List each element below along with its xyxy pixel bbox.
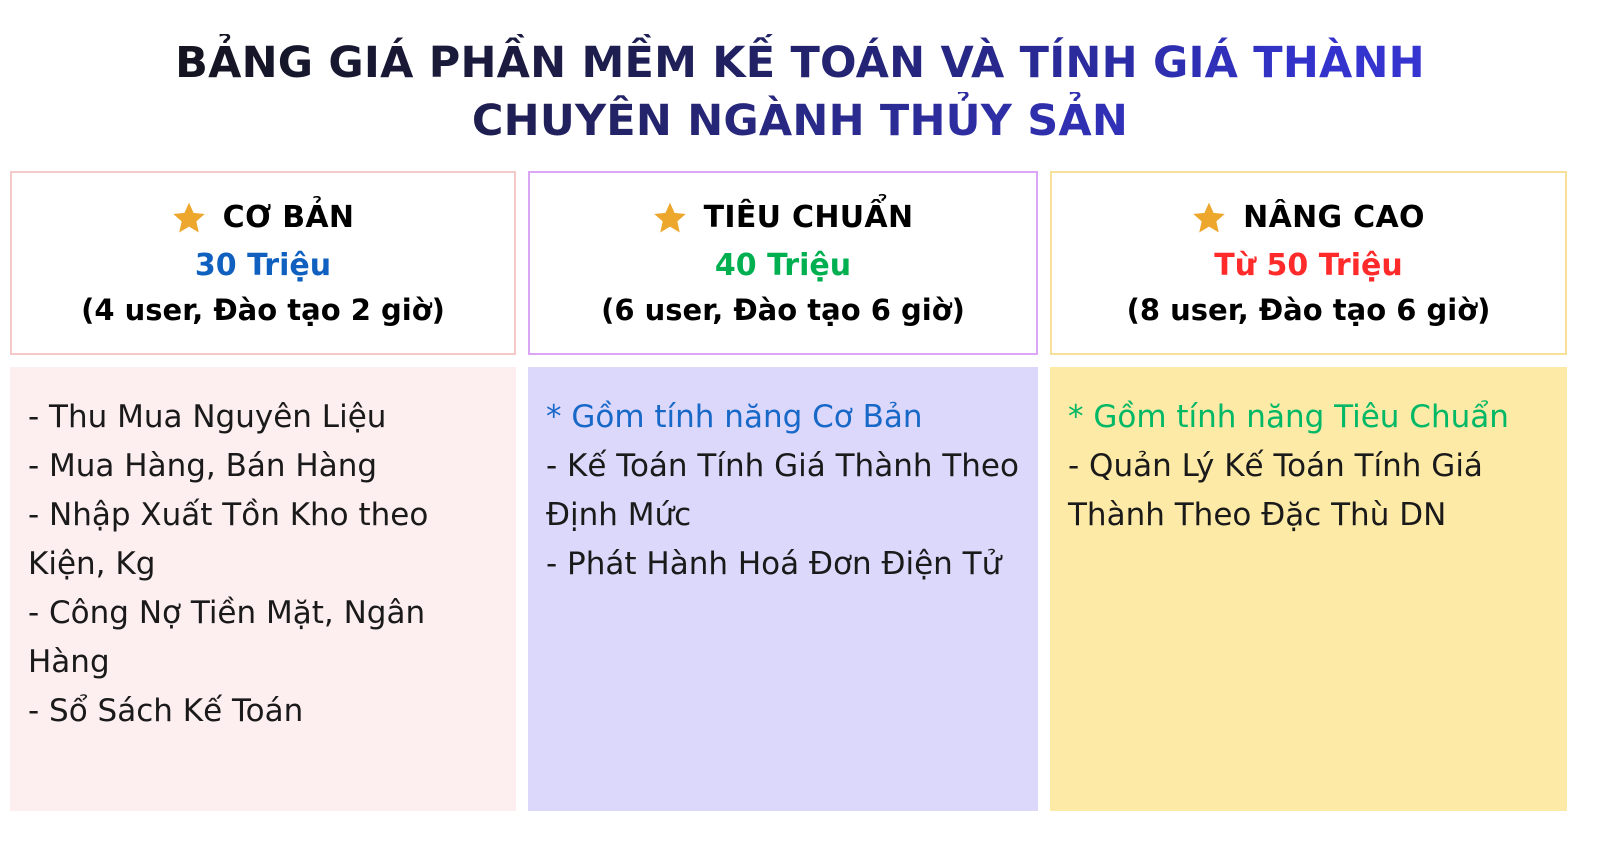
pricing-card-header-advanced: NÂNG CAO Từ 50 Triệu (8 user, Đào tạo 6 …	[1050, 171, 1567, 355]
plan-name-row: TIÊU CHUẨN	[530, 195, 1036, 241]
feature-item: - Nhập Xuất Tồn Kho theo Kiện, Kg	[28, 491, 498, 589]
page-title-line-1: BẢNG GIÁ PHẦN MỀM KẾ TOÁN VÀ TÍNH GIÁ TH…	[0, 34, 1600, 92]
pricing-card-header-basic: CƠ BẢN 30 Triệu (4 user, Đào tạo 2 giờ)	[10, 171, 516, 355]
plan-meta: (6 user, Đào tạo 6 giờ)	[530, 292, 1036, 328]
feature-item: - Công Nợ Tiền Mặt, Ngân Hàng	[28, 589, 498, 687]
plan-meta: (4 user, Đào tạo 2 giờ)	[12, 292, 514, 328]
pricing-cards-row: CƠ BẢN 30 Triệu (4 user, Đào tạo 2 giờ) …	[10, 171, 1567, 811]
plan-name: TIÊU CHUẨN	[704, 201, 914, 235]
pricing-card-basic[interactable]: CƠ BẢN 30 Triệu (4 user, Đào tạo 2 giờ) …	[10, 171, 516, 811]
pricing-card-advanced[interactable]: NÂNG CAO Từ 50 Triệu (8 user, Đào tạo 6 …	[1050, 171, 1567, 811]
feature-item: - Thu Mua Nguyên Liệu	[28, 393, 498, 442]
plan-name: NÂNG CAO	[1243, 201, 1425, 235]
page-title-line-2: CHUYÊN NGÀNH THỦY SẢN	[0, 92, 1600, 150]
star-icon	[1192, 201, 1226, 235]
plan-meta: (8 user, Đào tạo 6 giờ)	[1052, 292, 1565, 328]
plan-price: 30 Triệu	[12, 247, 514, 285]
plan-name-row: NÂNG CAO	[1052, 195, 1565, 241]
feature-item: - Phát Hành Hoá Đơn Điện Tử	[546, 540, 1020, 589]
feature-item-included: * Gồm tính năng Cơ Bản	[546, 393, 1020, 442]
feature-item: - Sổ Sách Kế Toán	[28, 687, 498, 736]
pricing-card-features-standard: * Gồm tính năng Cơ Bản - Kế Toán Tính Gi…	[528, 367, 1038, 811]
feature-item: - Kế Toán Tính Giá Thành Theo Định Mức	[546, 442, 1020, 540]
pricing-card-features-basic: - Thu Mua Nguyên Liệu - Mua Hàng, Bán Hà…	[10, 367, 516, 811]
feature-item: - Mua Hàng, Bán Hàng	[28, 442, 498, 491]
star-icon	[172, 201, 206, 235]
page-title: BẢNG GIÁ PHẦN MỀM KẾ TOÁN VÀ TÍNH GIÁ TH…	[0, 34, 1600, 150]
pricing-card-features-advanced: * Gồm tính năng Tiêu Chuẩn - Quản Lý Kế …	[1050, 367, 1567, 811]
feature-item-included: * Gồm tính năng Tiêu Chuẩn	[1068, 393, 1549, 442]
pricing-card-standard[interactable]: TIÊU CHUẨN 40 Triệu (6 user, Đào tạo 6 g…	[528, 171, 1038, 811]
feature-item: - Quản Lý Kế Toán Tính Giá Thành Theo Đặ…	[1068, 442, 1549, 540]
pricing-card-header-standard: TIÊU CHUẨN 40 Triệu (6 user, Đào tạo 6 g…	[528, 171, 1038, 355]
star-icon	[653, 201, 687, 235]
plan-name: CƠ BẢN	[223, 201, 355, 235]
plan-name-row: CƠ BẢN	[12, 195, 514, 241]
plan-price: Từ 50 Triệu	[1052, 247, 1565, 285]
plan-price: 40 Triệu	[530, 247, 1036, 285]
pricing-table-page: BẢNG GIÁ PHẦN MỀM KẾ TOÁN VÀ TÍNH GIÁ TH…	[0, 0, 1600, 842]
